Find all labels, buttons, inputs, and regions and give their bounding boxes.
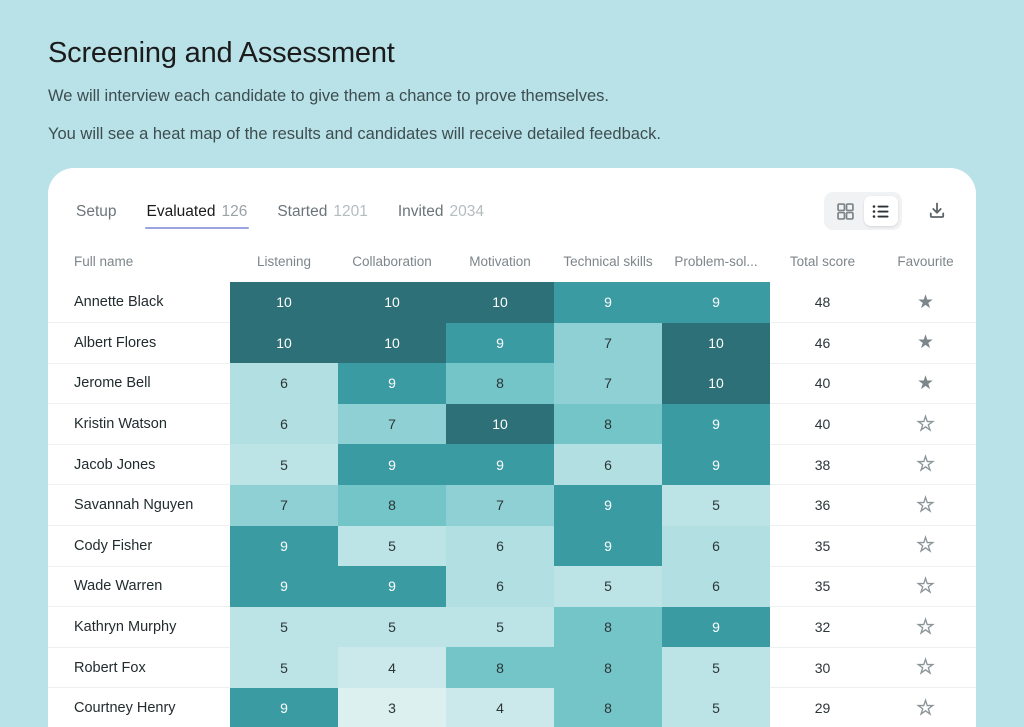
heat-cell: 5 <box>662 647 770 688</box>
page-title: Screening and Assessment <box>48 36 1024 71</box>
heat-cell: 10 <box>230 282 338 323</box>
tab-bar: SetupEvaluated126Started1201Invited2034 <box>74 199 486 233</box>
favourite-cell[interactable]: ★ <box>875 607 976 648</box>
favourite-cell[interactable]: ★ <box>875 444 976 485</box>
favourite-cell[interactable]: ★ <box>875 363 976 404</box>
total-score: 29 <box>770 688 875 727</box>
heat-cell: 10 <box>338 282 446 323</box>
heat-cell: 5 <box>554 566 662 607</box>
heat-cell: 8 <box>446 647 554 688</box>
star-filled-icon[interactable]: ★ <box>917 374 934 393</box>
tab-label: Started <box>277 203 327 220</box>
star-filled-icon[interactable]: ★ <box>917 333 934 352</box>
heat-cell: 8 <box>554 607 662 648</box>
heat-cell: 5 <box>230 444 338 485</box>
table-row[interactable]: Robert Fox5488530★ <box>48 647 976 688</box>
total-score: 40 <box>770 404 875 445</box>
heat-cell: 10 <box>446 404 554 445</box>
column-header: Collaboration <box>338 240 446 282</box>
column-header: Motivation <box>446 240 554 282</box>
table-header: Full nameListeningCollaborationMotivatio… <box>48 240 976 282</box>
table-row[interactable]: Albert Flores1010971046★ <box>48 323 976 364</box>
heat-cell: 5 <box>230 647 338 688</box>
heat-cell: 3 <box>338 688 446 727</box>
heat-cell: 9 <box>662 282 770 323</box>
tab-setup[interactable]: Setup <box>74 199 119 233</box>
heat-cell: 9 <box>554 485 662 526</box>
table-row[interactable]: Courtney Henry9348529★ <box>48 688 976 727</box>
table-row[interactable]: Kristin Watson67108940★ <box>48 404 976 445</box>
star-outline-icon[interactable]: ★ <box>917 455 934 474</box>
tab-label: Invited <box>398 203 444 220</box>
heat-cell: 5 <box>338 526 446 567</box>
candidate-name: Jerome Bell <box>48 363 230 404</box>
table-row[interactable]: Jerome Bell69871040★ <box>48 363 976 404</box>
table-header-row: Full nameListeningCollaborationMotivatio… <box>48 240 976 282</box>
candidates-table: Full nameListeningCollaborationMotivatio… <box>48 240 976 727</box>
page-root: Screening and Assessment We will intervi… <box>0 0 1024 727</box>
heat-cell: 8 <box>554 688 662 727</box>
column-header: Favourite <box>875 240 976 282</box>
table-row[interactable]: Wade Warren9965635★ <box>48 566 976 607</box>
view-controls <box>824 192 950 240</box>
favourite-cell[interactable]: ★ <box>875 323 976 364</box>
tab-evaluated[interactable]: Evaluated126 <box>145 199 250 233</box>
heat-cell: 6 <box>554 444 662 485</box>
candidate-name: Courtney Henry <box>48 688 230 727</box>
star-outline-icon[interactable]: ★ <box>917 536 934 555</box>
total-score: 46 <box>770 323 875 364</box>
favourite-cell[interactable]: ★ <box>875 688 976 727</box>
candidate-name: Albert Flores <box>48 323 230 364</box>
candidate-name: Kathryn Murphy <box>48 607 230 648</box>
star-outline-icon[interactable]: ★ <box>917 658 934 677</box>
column-header: Listening <box>230 240 338 282</box>
heat-cell: 8 <box>554 647 662 688</box>
heat-cell: 9 <box>554 282 662 323</box>
tab-count: 126 <box>221 203 247 220</box>
heat-cell: 4 <box>446 688 554 727</box>
star-outline-icon[interactable]: ★ <box>917 699 934 718</box>
table-row[interactable]: Cody Fisher9569635★ <box>48 526 976 567</box>
heat-cell: 7 <box>230 485 338 526</box>
heat-cell: 6 <box>230 363 338 404</box>
heat-cell: 7 <box>554 363 662 404</box>
heat-cell: 5 <box>230 607 338 648</box>
favourite-cell[interactable]: ★ <box>875 404 976 445</box>
card-toolbar: SetupEvaluated126Started1201Invited2034 <box>48 168 976 240</box>
favourite-cell[interactable]: ★ <box>875 526 976 567</box>
heat-cell: 8 <box>338 485 446 526</box>
tab-label: Setup <box>76 203 117 220</box>
heat-cell: 9 <box>662 607 770 648</box>
heat-cell: 10 <box>446 282 554 323</box>
column-header: Full name <box>48 240 230 282</box>
candidate-name: Wade Warren <box>48 566 230 607</box>
heat-cell: 10 <box>662 323 770 364</box>
total-score: 35 <box>770 566 875 607</box>
heat-cell: 6 <box>446 526 554 567</box>
tab-invited[interactable]: Invited2034 <box>396 199 486 233</box>
total-score: 32 <box>770 607 875 648</box>
candidates-card: SetupEvaluated126Started1201Invited2034 <box>48 168 976 727</box>
column-header: Problem-sol... <box>662 240 770 282</box>
heat-cell: 9 <box>554 526 662 567</box>
total-score: 35 <box>770 526 875 567</box>
total-score: 30 <box>770 647 875 688</box>
favourite-cell[interactable]: ★ <box>875 485 976 526</box>
heat-cell: 9 <box>446 323 554 364</box>
heat-cell: 10 <box>230 323 338 364</box>
heat-cell: 6 <box>446 566 554 607</box>
heat-cell: 9 <box>338 363 446 404</box>
candidate-name: Jacob Jones <box>48 444 230 485</box>
heat-cell: 9 <box>662 444 770 485</box>
total-score: 38 <box>770 444 875 485</box>
tab-label: Evaluated <box>147 203 216 220</box>
heat-cell: 8 <box>446 363 554 404</box>
heat-cell: 10 <box>338 323 446 364</box>
intro-section: Screening and Assessment We will intervi… <box>0 0 1024 148</box>
table-row[interactable]: Kathryn Murphy5558932★ <box>48 607 976 648</box>
heat-cell: 5 <box>662 688 770 727</box>
view-toggle-group <box>824 192 902 230</box>
heat-cell: 7 <box>338 404 446 445</box>
grid-view-icon[interactable] <box>828 196 862 226</box>
heat-cell: 9 <box>230 526 338 567</box>
tab-count: 1201 <box>333 203 367 220</box>
candidate-name: Savannah Nguyen <box>48 485 230 526</box>
column-header: Technical skills <box>554 240 662 282</box>
favourite-cell[interactable]: ★ <box>875 566 976 607</box>
heat-cell: 5 <box>662 485 770 526</box>
heat-cell: 6 <box>662 526 770 567</box>
table-row[interactable]: Annette Black1010109948★ <box>48 282 976 323</box>
table-row[interactable]: Savannah Nguyen7879536★ <box>48 485 976 526</box>
column-header: Total score <box>770 240 875 282</box>
total-score: 48 <box>770 282 875 323</box>
heat-cell: 9 <box>338 566 446 607</box>
star-outline-icon[interactable]: ★ <box>917 577 934 596</box>
heat-cell: 5 <box>446 607 554 648</box>
total-score: 40 <box>770 363 875 404</box>
table-body: Annette Black1010109948★Albert Flores101… <box>48 282 976 727</box>
total-score: 36 <box>770 485 875 526</box>
heat-cell: 7 <box>554 323 662 364</box>
heat-cell: 6 <box>230 404 338 445</box>
star-outline-icon[interactable]: ★ <box>917 415 934 434</box>
heat-cell: 10 <box>662 363 770 404</box>
star-filled-icon[interactable]: ★ <box>917 293 934 312</box>
list-view-icon[interactable] <box>864 196 898 226</box>
favourite-cell[interactable]: ★ <box>875 282 976 323</box>
candidate-name: Cody Fisher <box>48 526 230 567</box>
star-outline-icon[interactable]: ★ <box>917 618 934 637</box>
favourite-cell[interactable]: ★ <box>875 647 976 688</box>
heat-cell: 9 <box>662 404 770 445</box>
intro-line-1: We will interview each candidate to give… <box>48 84 1024 110</box>
heat-cell: 9 <box>230 688 338 727</box>
star-outline-icon[interactable]: ★ <box>917 496 934 515</box>
tab-started[interactable]: Started1201 <box>275 199 369 233</box>
candidate-name: Annette Black <box>48 282 230 323</box>
heat-cell: 5 <box>338 607 446 648</box>
heat-cell: 9 <box>446 444 554 485</box>
heat-cell: 7 <box>446 485 554 526</box>
download-icon[interactable] <box>924 198 950 224</box>
heat-cell: 6 <box>662 566 770 607</box>
heat-cell: 9 <box>230 566 338 607</box>
table-row[interactable]: Jacob Jones5996938★ <box>48 444 976 485</box>
candidate-name: Kristin Watson <box>48 404 230 445</box>
intro-line-2: You will see a heat map of the results a… <box>48 122 1024 148</box>
candidate-name: Robert Fox <box>48 647 230 688</box>
heat-cell: 8 <box>554 404 662 445</box>
heat-cell: 4 <box>338 647 446 688</box>
heat-cell: 9 <box>338 444 446 485</box>
tab-count: 2034 <box>449 203 483 220</box>
